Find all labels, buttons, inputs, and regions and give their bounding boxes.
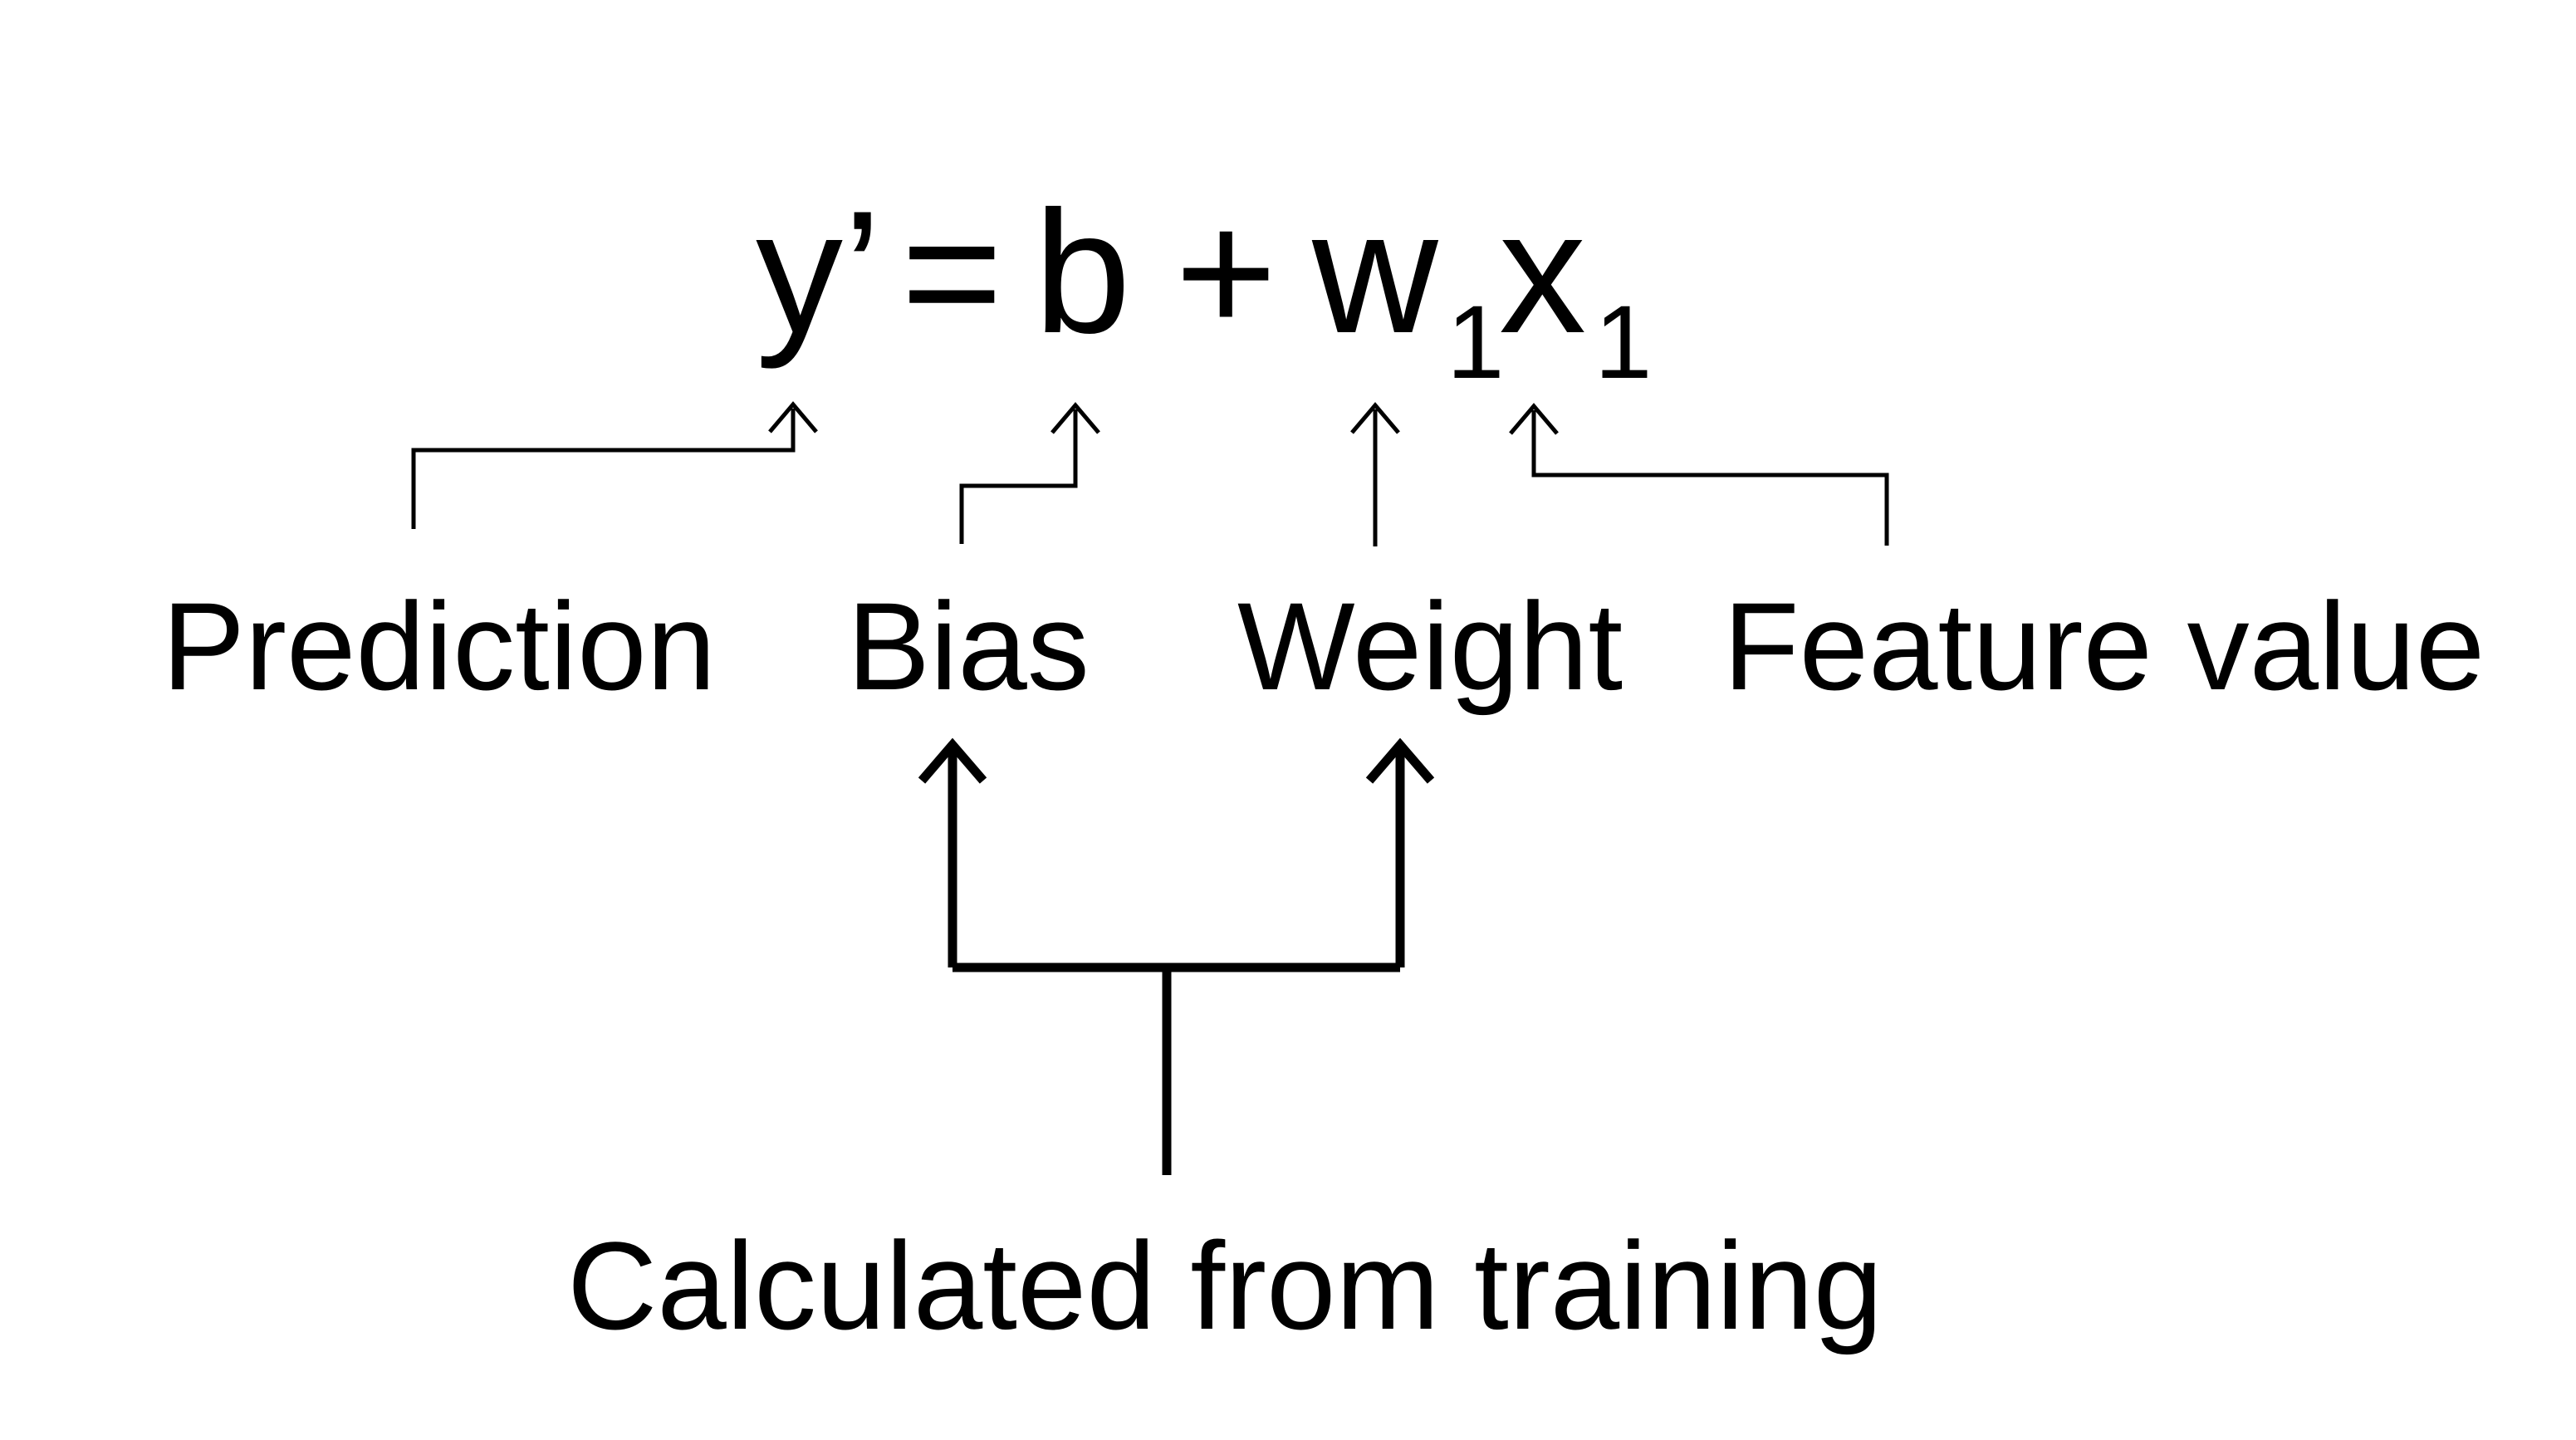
equation-w: w: [1311, 174, 1439, 370]
label-prediction: Prediction: [162, 576, 716, 716]
equation-y-prime: y’: [756, 174, 882, 370]
label-feature-value: Feature value: [1723, 576, 2485, 716]
equation-equals: =: [901, 174, 1003, 370]
equation-x: x: [1499, 174, 1586, 370]
label-weight: Weight: [1237, 576, 1623, 716]
equation-plus: +: [1175, 174, 1277, 370]
equation-w-subscript: 1: [1447, 285, 1505, 400]
label-bias: Bias: [847, 576, 1090, 716]
label-row: Prediction Bias Weight Feature value: [162, 576, 2485, 716]
diagram-canvas: y’ = b + w 1 x 1: [0, 0, 2576, 1440]
equation-b: b: [1034, 174, 1131, 370]
equation-x-subscript: 1: [1594, 285, 1653, 400]
annotation-diagram: y’ = b + w 1 x 1: [0, 0, 2576, 1440]
caption-calculated-from-training: Calculated from training: [567, 1216, 1883, 1355]
